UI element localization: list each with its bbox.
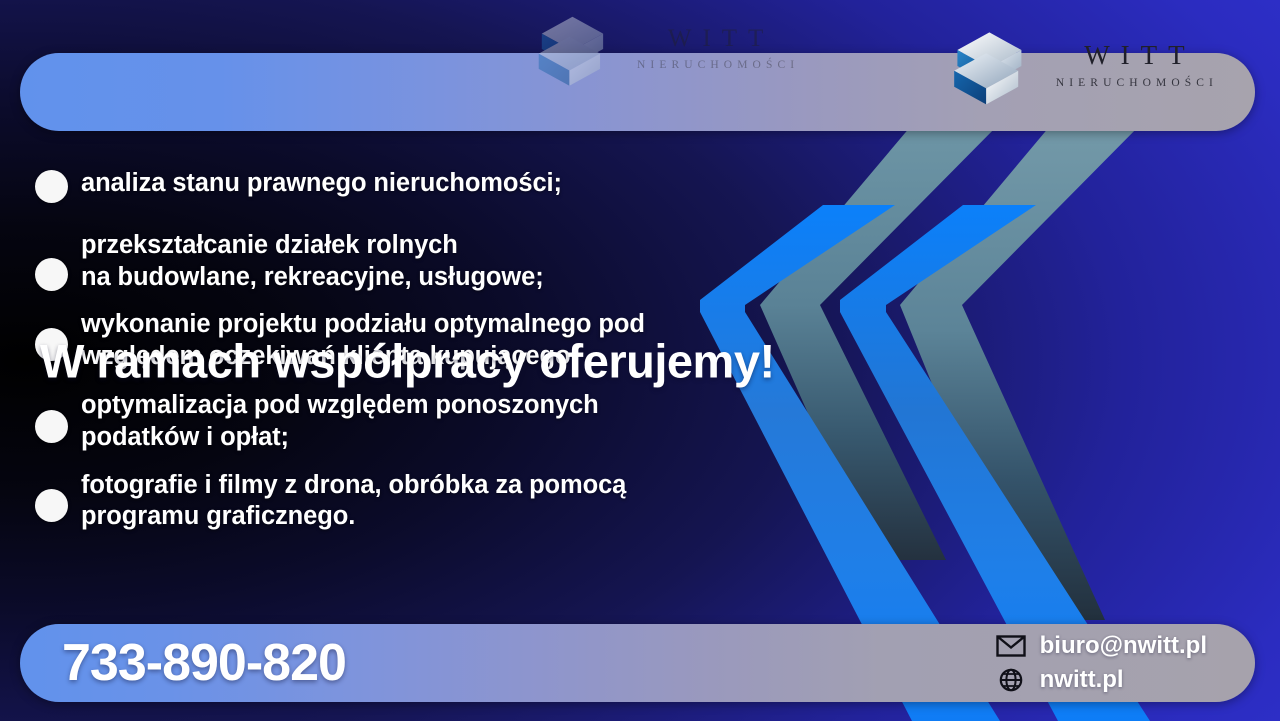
chevron-gray-2 xyxy=(900,120,1145,620)
bullet-dot-icon xyxy=(35,258,68,291)
email-line[interactable]: biuro@nwitt.pl xyxy=(996,632,1207,660)
website-url: nwitt.pl xyxy=(1040,666,1124,694)
list-item: fotografie i filmy z drona, obróbka za p… xyxy=(35,470,815,533)
brand-tagline-watermark: NIERUCHOMOŚCI xyxy=(632,60,799,72)
page-title: W ramach współpracy oferujemy! xyxy=(40,333,775,388)
list-item-label: analiza stanu prawnego nieruchomości; xyxy=(81,168,562,200)
bullet-dot-icon xyxy=(35,170,68,203)
website-line[interactable]: nwitt.pl xyxy=(996,666,1207,694)
brand-wordmark: WITT NIERUCHOMOŚCI xyxy=(1051,42,1218,90)
email-address: biuro@nwitt.pl xyxy=(1040,632,1207,660)
list-item: analiza stanu prawnego nieruchomości; xyxy=(35,168,815,203)
list-item-label: fotografie i filmy z drona, obróbka za p… xyxy=(81,470,626,533)
globe-icon xyxy=(996,668,1026,692)
list-item: optymalizacja pod względem ponoszonych p… xyxy=(35,390,815,453)
brand-logo[interactable]: WITT NIERUCHOMOŚCI xyxy=(943,18,1218,114)
bullet-dot-icon xyxy=(35,410,68,443)
witt-isometric-logo-icon xyxy=(943,18,1039,114)
list-item-label: optymalizacja pod względem ponoszonych p… xyxy=(81,390,599,453)
envelope-icon xyxy=(996,634,1026,658)
witt-isometric-logo-watermark-icon xyxy=(528,3,620,95)
contact-details: biuro@nwitt.pl nwitt.pl xyxy=(996,632,1207,694)
list-item: przekształcanie działek rolnych na budow… xyxy=(35,230,815,293)
bullet-dot-icon xyxy=(35,489,68,522)
brand-name: WITT xyxy=(1073,42,1195,69)
list-item-label: przekształcanie działek rolnych na budow… xyxy=(81,230,544,293)
contact-bar: 733-890-820 biuro@nwitt.pl nwitt.pl xyxy=(20,624,1255,702)
brand-name-watermark: WITT xyxy=(657,26,774,51)
brand-logo-watermark: WITT NIERUCHOMOŚCI xyxy=(528,3,799,95)
brand-wordmark-watermark: WITT NIERUCHOMOŚCI xyxy=(632,26,799,72)
promo-poster: WITT NIERUCHOMOŚCI W ramach współpracy o… xyxy=(0,0,1280,721)
brand-tagline: NIERUCHOMOŚCI xyxy=(1051,78,1218,90)
phone-number[interactable]: 733-890-820 xyxy=(62,633,346,693)
